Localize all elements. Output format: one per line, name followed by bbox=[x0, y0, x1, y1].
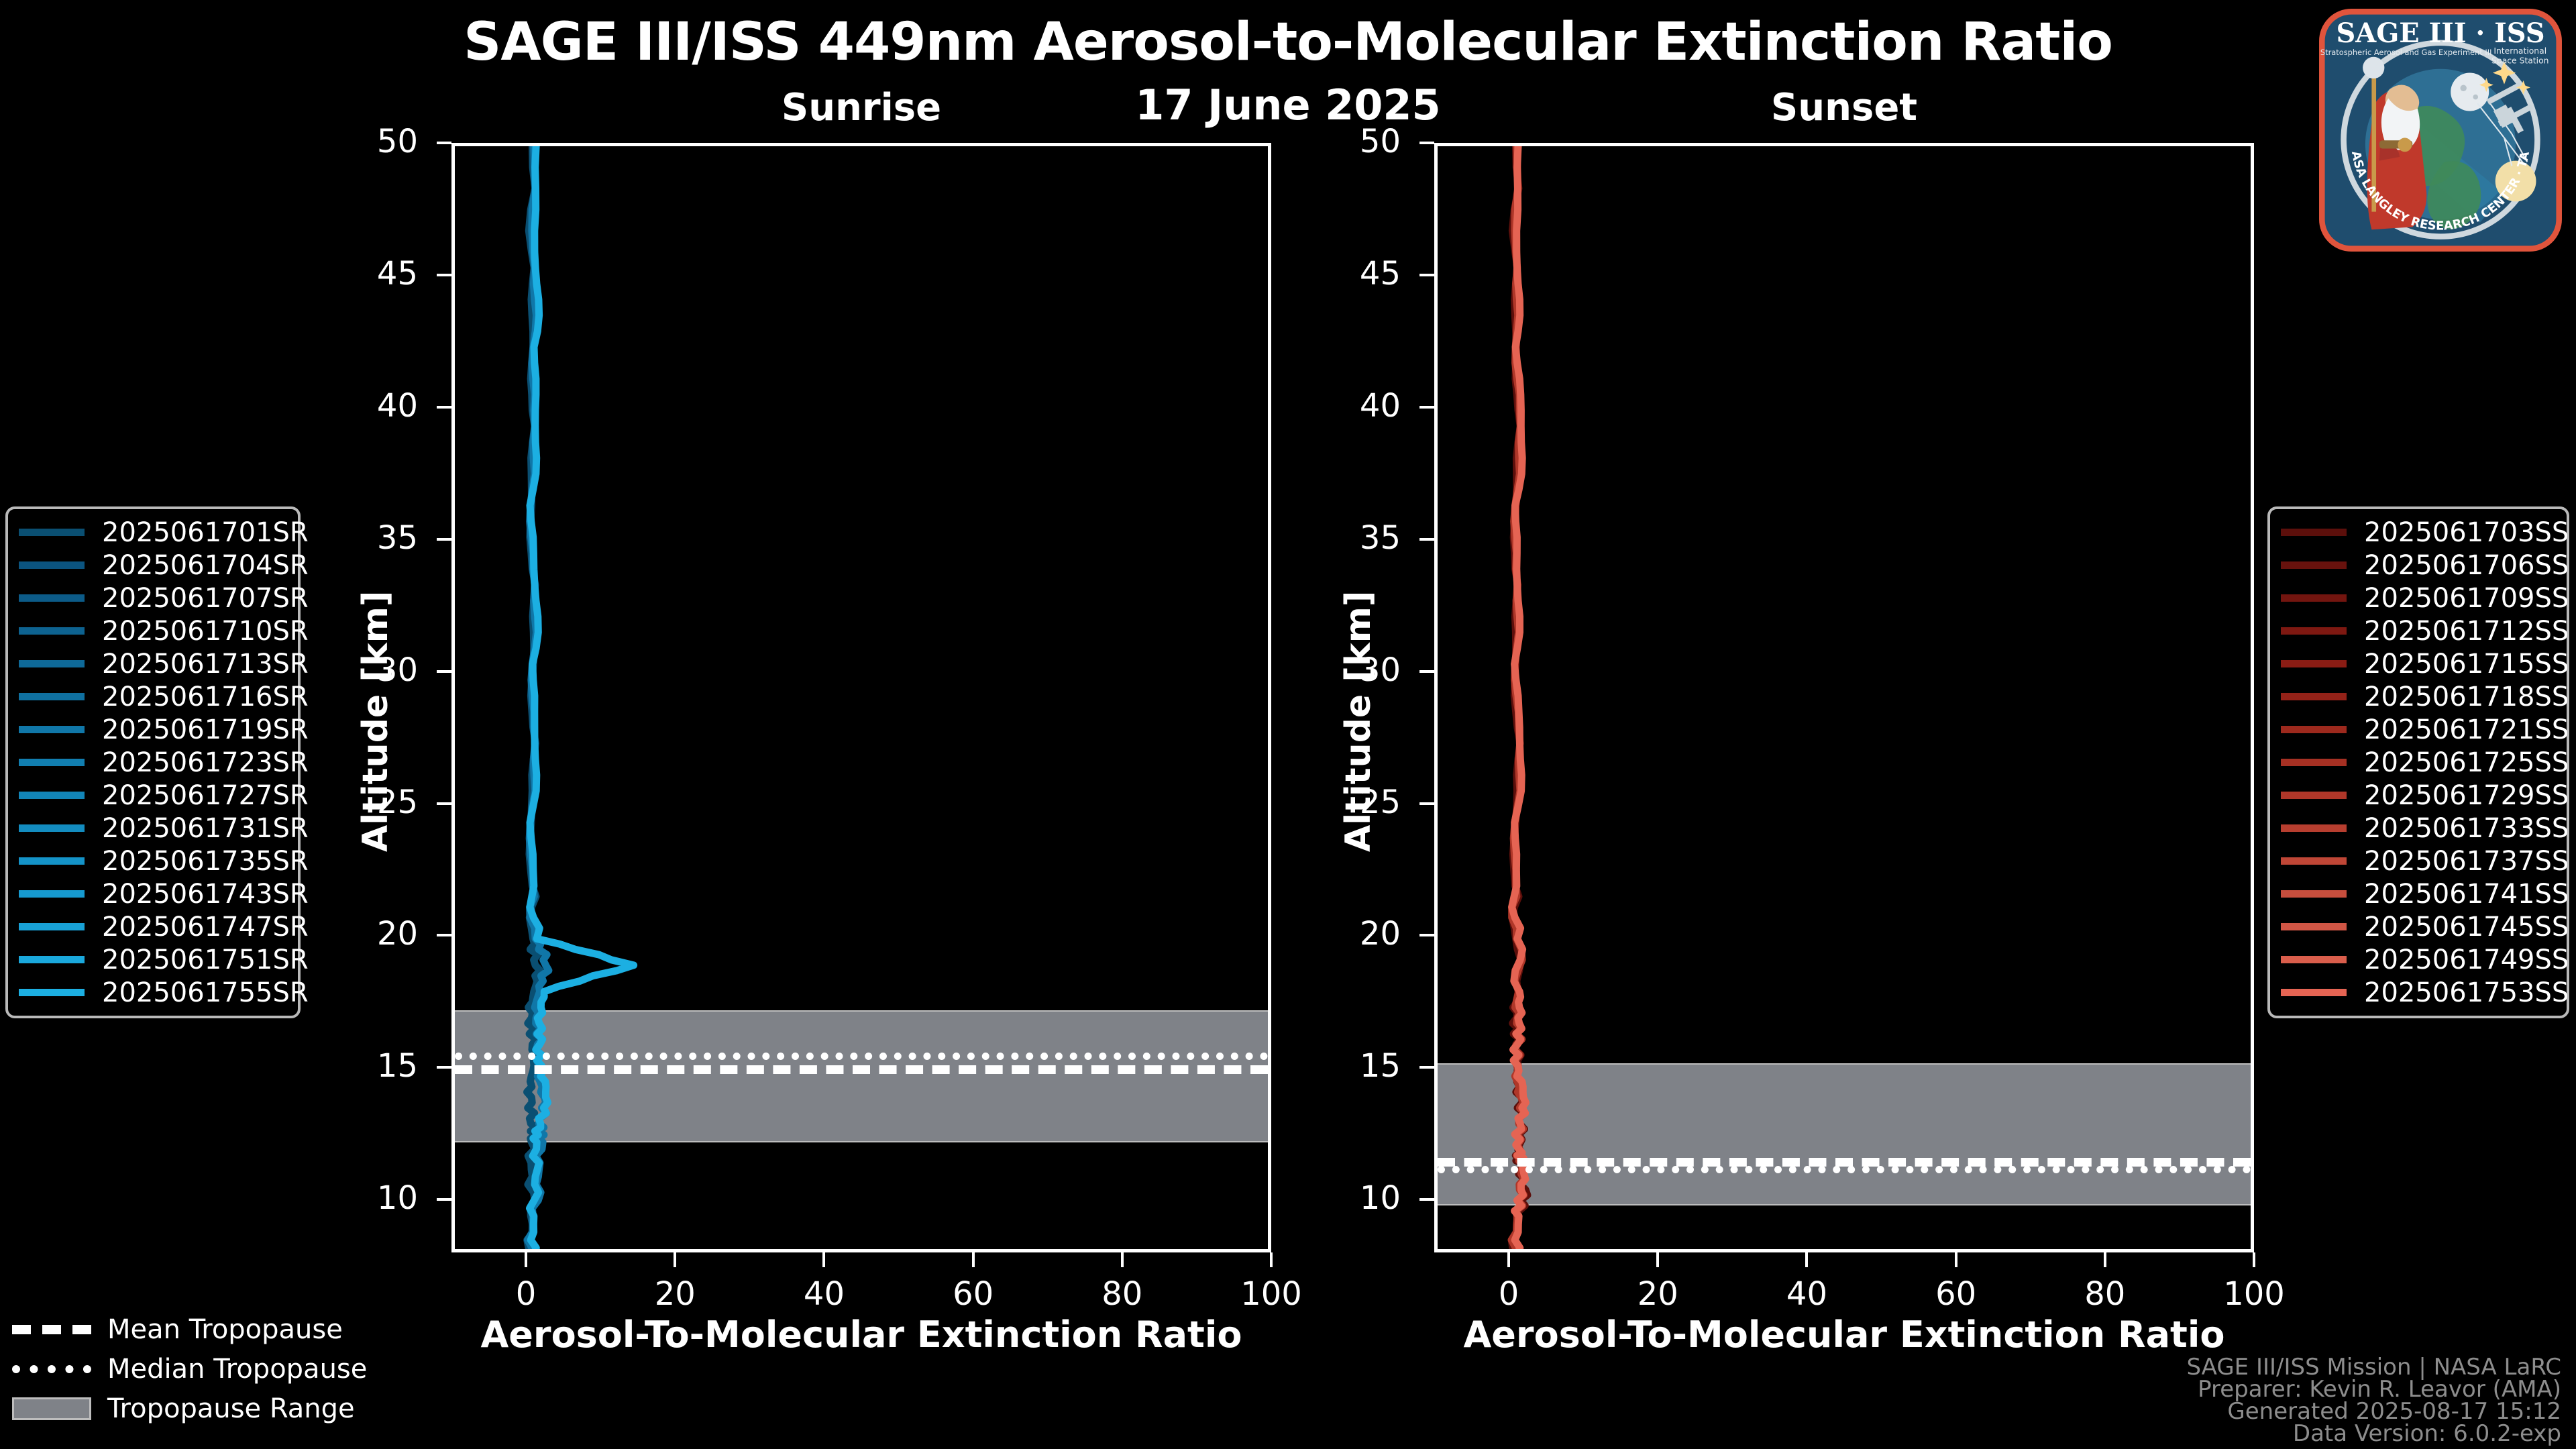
legend-item-label: 2025061704SR bbox=[102, 550, 309, 581]
legend-item-sunset[interactable]: 2025061712SS bbox=[2281, 614, 2556, 647]
sunrise-x-axis-label: Aerosol-To-Molecular Extinction Ratio bbox=[451, 1313, 1271, 1356]
mean-tropopause-dash-icon bbox=[12, 1321, 91, 1338]
legend-item-label: 2025061701SR bbox=[102, 517, 309, 548]
y-axis-tick-label-sunset: 25 bbox=[1267, 784, 1401, 821]
legend-item-sunrise[interactable]: 2025061701SR bbox=[19, 516, 287, 549]
legend-item-label: 2025061721SS bbox=[2364, 714, 2569, 745]
page-title: SAGE III/ISS 449nm Aerosol-to-Molecular … bbox=[0, 12, 2576, 72]
legend-color-swatch-icon bbox=[2281, 594, 2347, 602]
legend-item-sunset[interactable]: 2025061718SS bbox=[2281, 680, 2556, 713]
credits-block: SAGE III/ISS Mission | NASA LaRC Prepare… bbox=[2186, 1356, 2561, 1445]
legend-color-swatch-icon bbox=[19, 726, 85, 733]
y-axis-tick bbox=[437, 1066, 451, 1069]
legend-item-sunset[interactable]: 2025061703SS bbox=[2281, 516, 2556, 549]
y-axis-tick bbox=[437, 934, 451, 936]
mean-tropopause-label: Mean Tropopause bbox=[107, 1314, 343, 1345]
legend-item-label: 2025061747SR bbox=[102, 912, 309, 943]
legend-color-swatch-icon bbox=[19, 627, 85, 635]
legend-item-label: 2025061725SS bbox=[2364, 747, 2569, 778]
legend-item-sunrise[interactable]: 2025061751SR bbox=[19, 943, 287, 976]
sunrise-y-axis-label: Altitude [km] bbox=[356, 590, 396, 852]
legend-item-sunrise[interactable]: 2025061704SR bbox=[19, 549, 287, 582]
legend-item-label: 2025061713SR bbox=[102, 649, 309, 680]
legend-item-label: 2025061716SR bbox=[102, 682, 309, 712]
legend-color-swatch-icon bbox=[19, 890, 85, 898]
legend-color-swatch-icon bbox=[19, 824, 85, 832]
patch-subtitle-left: Stratospheric Aerosol and Gas Experiment… bbox=[2320, 48, 2492, 57]
legend-color-swatch-icon bbox=[19, 989, 85, 996]
legend-item-label: 2025061743SR bbox=[102, 879, 309, 910]
legend-color-swatch-icon bbox=[2281, 824, 2347, 832]
legend-item-label: 2025061710SR bbox=[102, 616, 309, 647]
y-axis-tick-label-sunset: 15 bbox=[1267, 1047, 1401, 1085]
x-axis-tick-label-sunrise: 40 bbox=[757, 1275, 891, 1313]
legend-item-label: 2025061741SS bbox=[2364, 879, 2569, 910]
legend-color-swatch-icon bbox=[2281, 890, 2347, 898]
x-axis-tick bbox=[1805, 1252, 1808, 1267]
y-axis-tick bbox=[437, 802, 451, 805]
legend-item-sunrise[interactable]: 2025061735SR bbox=[19, 845, 287, 877]
legend-color-swatch-icon bbox=[2281, 989, 2347, 996]
credits-line-version: Data Version: 6.0.2-exp bbox=[2186, 1423, 2561, 1445]
y-axis-tick bbox=[437, 538, 451, 541]
tropopause-key: Mean Tropopause Median Tropopause Tropop… bbox=[12, 1309, 428, 1428]
y-axis-tick-label-sunrise: 45 bbox=[284, 255, 418, 292]
legend-item-sunrise[interactable]: 2025061727SR bbox=[19, 779, 287, 812]
y-axis-tick-label-sunrise: 50 bbox=[284, 123, 418, 160]
legend-color-swatch-icon bbox=[2281, 693, 2347, 700]
legend-color-swatch-icon bbox=[19, 923, 85, 930]
x-axis-tick bbox=[822, 1252, 825, 1267]
legend-item-sunset[interactable]: 2025061725SS bbox=[2281, 746, 2556, 779]
legend-color-swatch-icon bbox=[19, 857, 85, 865]
legend-color-swatch-icon bbox=[2281, 759, 2347, 766]
legend-item-label: 2025061735SR bbox=[102, 846, 309, 877]
legend-color-swatch-icon bbox=[2281, 529, 2347, 536]
legend-item-sunset[interactable]: 2025061733SS bbox=[2281, 812, 2556, 845]
patch-subtitle-right-2: Space Station bbox=[2491, 56, 2548, 65]
series-curves bbox=[1438, 146, 2254, 1252]
legend-item-sunrise[interactable]: 2025061731SR bbox=[19, 812, 287, 845]
x-axis-tick-label-sunrise: 60 bbox=[906, 1275, 1040, 1313]
y-axis-tick-label-sunrise: 40 bbox=[284, 387, 418, 425]
legend-item-sunrise[interactable]: 2025061723SR bbox=[19, 746, 287, 779]
legend-color-swatch-icon bbox=[2281, 627, 2347, 635]
legend-item-label: 2025061749SS bbox=[2364, 945, 2569, 975]
y-axis-tick bbox=[1419, 1198, 1434, 1201]
legend-item-sunset[interactable]: 2025061749SS bbox=[2281, 943, 2556, 976]
y-axis-tick bbox=[1419, 1066, 1434, 1069]
median-tropopause-line bbox=[455, 1053, 1268, 1060]
y-axis-tick-label-sunset: 30 bbox=[1267, 651, 1401, 689]
y-axis-tick-label-sunset: 20 bbox=[1267, 915, 1401, 953]
legend-color-swatch-icon bbox=[2281, 561, 2347, 569]
sunset-legend[interactable]: 2025061703SS2025061706SS2025061709SS2025… bbox=[2267, 506, 2569, 1018]
legend-color-swatch-icon bbox=[19, 529, 85, 536]
x-axis-tick-label-sunset: 60 bbox=[1889, 1275, 2023, 1313]
sunrise-plot-panel bbox=[451, 143, 1271, 1252]
x-axis-tick bbox=[2104, 1252, 2106, 1267]
legend-item-sunrise[interactable]: 2025061716SR bbox=[19, 680, 287, 713]
legend-item-sunset[interactable]: 2025061709SS bbox=[2281, 582, 2556, 614]
legend-item-sunset[interactable]: 2025061721SS bbox=[2281, 713, 2556, 746]
tropopause-range-label: Tropopause Range bbox=[107, 1393, 355, 1424]
legend-item-sunrise[interactable]: 2025061747SR bbox=[19, 910, 287, 943]
legend-color-swatch-icon bbox=[2281, 726, 2347, 733]
legend-color-swatch-icon bbox=[19, 561, 85, 569]
y-axis-tick bbox=[1419, 934, 1434, 936]
y-axis-tick bbox=[1419, 142, 1434, 144]
legend-color-swatch-icon bbox=[2281, 923, 2347, 930]
y-axis-tick bbox=[437, 670, 451, 673]
legend-item-label: 2025061737SS bbox=[2364, 846, 2569, 877]
x-axis-tick bbox=[1121, 1252, 1124, 1267]
sunset-y-axis-label: Altitude [km] bbox=[1338, 590, 1379, 852]
legend-item-label: 2025061733SS bbox=[2364, 813, 2569, 844]
series-line bbox=[530, 146, 634, 1252]
x-axis-tick bbox=[972, 1252, 975, 1267]
y-axis-tick-label-sunset: 10 bbox=[1267, 1179, 1401, 1217]
y-axis-tick-label-sunset: 40 bbox=[1267, 387, 1401, 425]
y-axis-tick-label-sunrise: 10 bbox=[284, 1179, 418, 1217]
legend-item-label: 2025061706SS bbox=[2364, 550, 2569, 581]
sunset-plot-area bbox=[1438, 146, 2251, 1249]
median-tropopause-dot-icon bbox=[12, 1360, 91, 1378]
y-axis-tick bbox=[437, 406, 451, 409]
y-axis-tick bbox=[1419, 670, 1434, 673]
key-row-median: Median Tropopause bbox=[12, 1349, 428, 1389]
sunrise-plot-area bbox=[455, 146, 1268, 1249]
legend-item-label: 2025061712SS bbox=[2364, 616, 2569, 647]
legend-color-swatch-icon bbox=[19, 693, 85, 700]
legend-item-label: 2025061718SS bbox=[2364, 682, 2569, 712]
x-axis-tick bbox=[1955, 1252, 1957, 1267]
x-axis-tick bbox=[1656, 1252, 1659, 1267]
y-axis-tick-label-sunset: 35 bbox=[1267, 519, 1401, 557]
key-row-mean: Mean Tropopause bbox=[12, 1309, 428, 1349]
sunrise-panel-title: Sunrise bbox=[451, 86, 1271, 129]
legend-item-label: 2025061753SS bbox=[2364, 977, 2569, 1008]
key-row-range: Tropopause Range bbox=[12, 1389, 428, 1428]
legend-item-sunrise[interactable]: 2025061743SR bbox=[19, 877, 287, 910]
y-axis-tick-label-sunset: 45 bbox=[1267, 255, 1401, 292]
legend-color-swatch-icon bbox=[2281, 956, 2347, 963]
y-axis-tick bbox=[437, 274, 451, 276]
legend-item-sunset[interactable]: 2025061706SS bbox=[2281, 549, 2556, 582]
x-axis-tick-label-sunrise: 20 bbox=[608, 1275, 742, 1313]
x-axis-tick bbox=[1507, 1252, 1510, 1267]
sunset-x-axis-label: Aerosol-To-Molecular Extinction Ratio bbox=[1434, 1313, 2254, 1356]
x-axis-tick-label-sunset: 20 bbox=[1591, 1275, 1725, 1313]
legend-color-swatch-icon bbox=[19, 594, 85, 602]
y-axis-tick bbox=[1419, 406, 1434, 409]
legend-color-swatch-icon bbox=[2281, 792, 2347, 799]
legend-item-label: 2025061745SS bbox=[2364, 912, 2569, 943]
legend-item-sunset[interactable]: 2025061737SS bbox=[2281, 845, 2556, 877]
x-axis-tick-label-sunrise: 0 bbox=[459, 1275, 593, 1313]
legend-item-sunrise[interactable]: 2025061713SR bbox=[19, 647, 287, 680]
y-axis-tick bbox=[1419, 274, 1434, 276]
legend-item-sunrise[interactable]: 2025061755SR bbox=[19, 976, 287, 1009]
x-axis-tick bbox=[674, 1252, 676, 1267]
mean-tropopause-line bbox=[455, 1065, 1268, 1074]
legend-item-label: 2025061715SS bbox=[2364, 649, 2569, 680]
legend-item-sunrise[interactable]: 2025061707SR bbox=[19, 582, 287, 614]
x-axis-tick bbox=[2253, 1252, 2255, 1267]
series-curves bbox=[455, 146, 1271, 1252]
legend-item-label: 2025061707SR bbox=[102, 583, 309, 614]
legend-item-sunrise[interactable]: 2025061719SR bbox=[19, 713, 287, 746]
sunrise-legend[interactable]: 2025061701SR2025061704SR2025061707SR2025… bbox=[5, 506, 301, 1018]
legend-item-label: 2025061727SR bbox=[102, 780, 309, 811]
y-axis-tick-label-sunset: 50 bbox=[1267, 123, 1401, 160]
legend-color-swatch-icon bbox=[19, 792, 85, 799]
legend-item-sunset[interactable]: 2025061729SS bbox=[2281, 779, 2556, 812]
legend-item-label: 2025061723SR bbox=[102, 747, 309, 778]
y-axis-tick bbox=[437, 1198, 451, 1201]
legend-item-sunset[interactable]: 2025061745SS bbox=[2281, 910, 2556, 943]
x-axis-tick bbox=[525, 1252, 527, 1267]
legend-item-sunset[interactable]: 2025061753SS bbox=[2281, 976, 2556, 1009]
legend-item-label: 2025061719SR bbox=[102, 714, 309, 745]
legend-color-swatch-icon bbox=[19, 956, 85, 963]
legend-item-label: 2025061751SR bbox=[102, 945, 309, 975]
y-axis-tick-label-sunrise: 15 bbox=[284, 1047, 418, 1085]
y-axis-tick bbox=[437, 142, 451, 144]
legend-color-swatch-icon bbox=[19, 759, 85, 766]
legend-item-label: 2025061703SS bbox=[2364, 517, 2569, 548]
legend-item-label: 2025061709SS bbox=[2364, 583, 2569, 614]
x-axis-tick-label-sunset: 40 bbox=[1739, 1275, 1874, 1313]
legend-color-swatch-icon bbox=[2281, 660, 2347, 667]
sunset-plot-panel bbox=[1434, 143, 2254, 1252]
legend-item-label: 2025061731SR bbox=[102, 813, 309, 844]
legend-item-label: 2025061729SS bbox=[2364, 780, 2569, 811]
patch-subtitle-right: International bbox=[2493, 46, 2546, 56]
x-axis-tick-label-sunrise: 100 bbox=[1204, 1275, 1338, 1313]
x-axis-tick-label-sunset: 80 bbox=[2038, 1275, 2172, 1313]
y-axis-tick bbox=[1419, 538, 1434, 541]
legend-item-sunrise[interactable]: 2025061710SR bbox=[19, 614, 287, 647]
x-axis-tick-label-sunset: 100 bbox=[2187, 1275, 2321, 1313]
legend-item-label: 2025061755SR bbox=[102, 977, 309, 1008]
x-axis-tick-label-sunrise: 80 bbox=[1055, 1275, 1189, 1313]
legend-color-swatch-icon bbox=[2281, 857, 2347, 865]
patch-title: SAGE III · ISS bbox=[2336, 18, 2544, 49]
x-axis-tick-label-sunset: 0 bbox=[1442, 1275, 1576, 1313]
legend-item-sunset[interactable]: 2025061741SS bbox=[2281, 877, 2556, 910]
x-axis-tick bbox=[1270, 1252, 1273, 1267]
legend-item-sunset[interactable]: 2025061715SS bbox=[2281, 647, 2556, 680]
median-tropopause-line bbox=[1438, 1166, 2251, 1173]
tropopause-range-swatch-icon bbox=[12, 1400, 91, 1417]
y-axis-tick bbox=[1419, 802, 1434, 805]
sage3-iss-mission-patch-icon: SAGE III · ISS Stratospheric Aerosol and… bbox=[2313, 3, 2568, 258]
median-tropopause-label: Median Tropopause bbox=[107, 1354, 367, 1385]
legend-color-swatch-icon bbox=[19, 660, 85, 667]
sunset-panel-title: Sunset bbox=[1434, 86, 2254, 129]
